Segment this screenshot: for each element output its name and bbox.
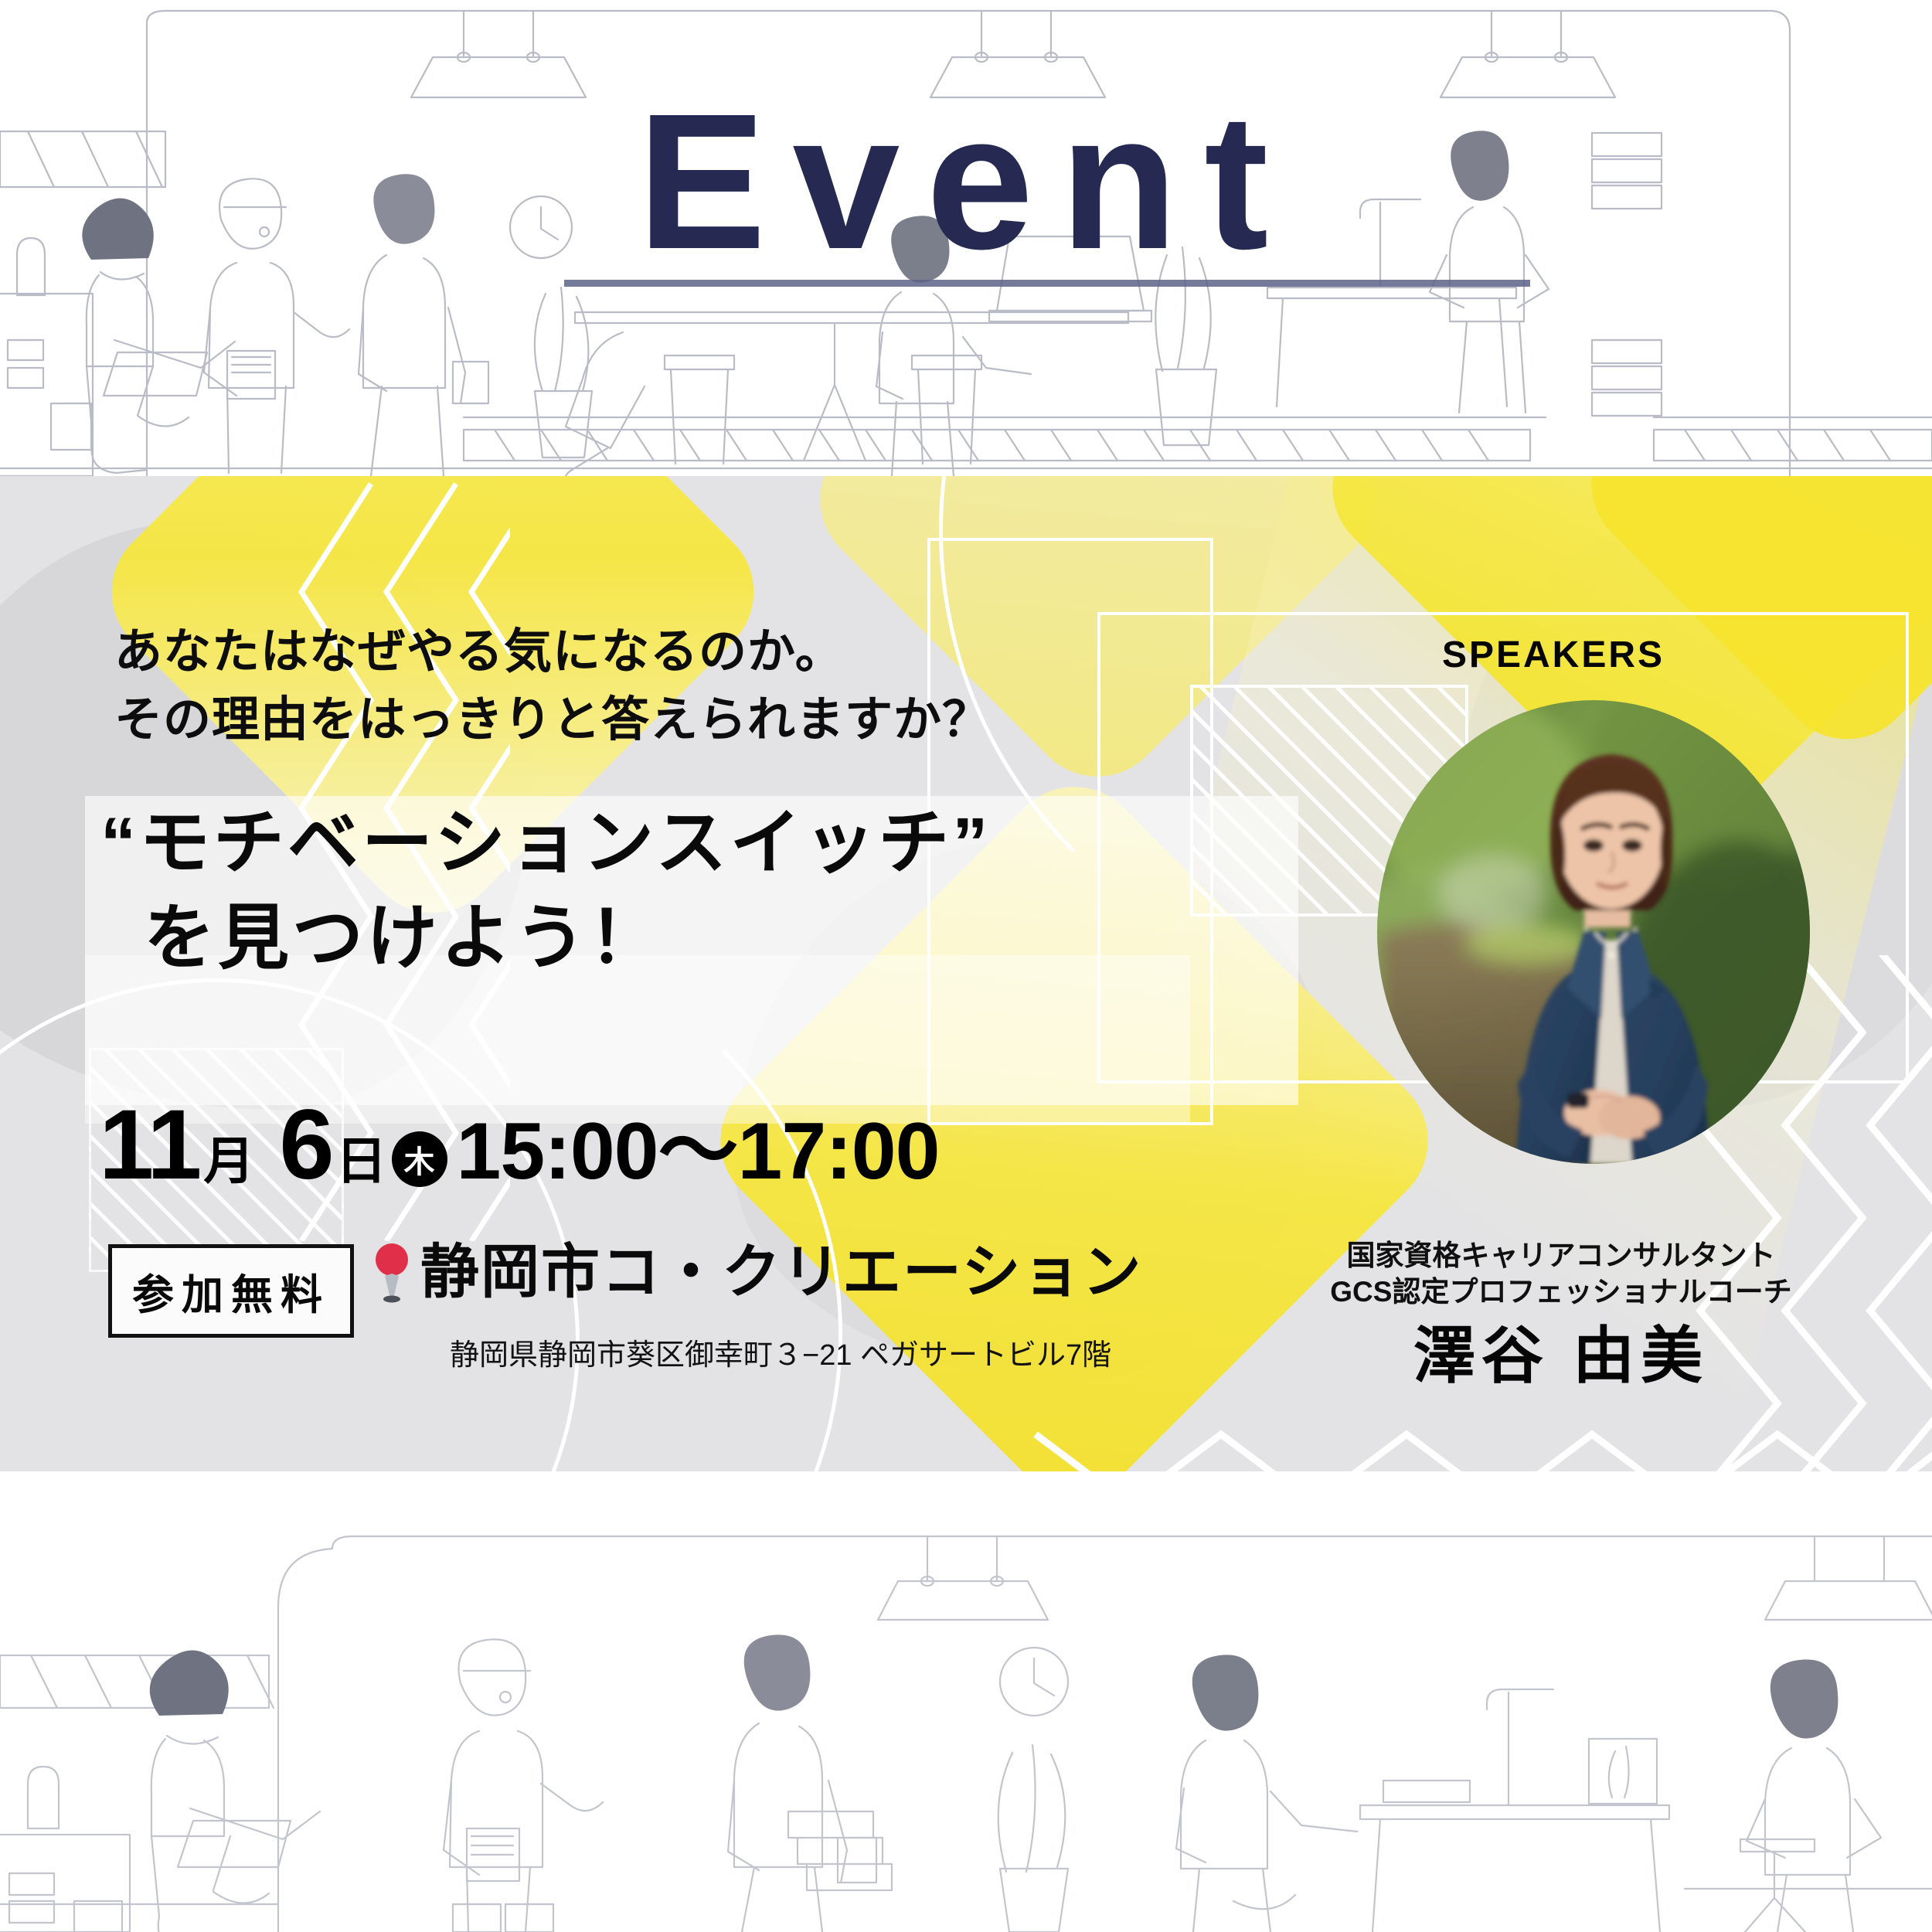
speaker-name: 澤谷 由美	[1275, 1306, 1847, 1396]
speaker-role-line-1: 国家資格キャリアコンサルタント	[1275, 1238, 1847, 1274]
lead-copy: あなたはなぜやる気になるのか。 その理由をはっきりと答えられますか？	[114, 618, 991, 754]
headline-line-1: “モチベーションスイッチ”	[100, 804, 991, 883]
speaker-portrait	[1377, 700, 1810, 1164]
free-admission-badge: 参加無料	[108, 1244, 354, 1338]
venue-block: 静岡市コ・クリエーション	[371, 1243, 1142, 1303]
event-date-time: 11 月 6 日 木 15:00〜17:00	[99, 1096, 940, 1195]
event-month: 11	[99, 1096, 200, 1195]
headline-line-2: を見つけよう！	[100, 891, 991, 986]
top-illustration-band: Event	[0, 0, 1932, 476]
bottom-illustration-band	[0, 1471, 1932, 1932]
event-day: 6	[279, 1096, 332, 1195]
title-underline	[564, 280, 1530, 287]
weekday-badge: 木	[392, 1131, 447, 1187]
speaker-role-line-2: GCS認定プロフェッショナルコーチ	[1275, 1274, 1847, 1311]
location-pin-icon	[371, 1243, 413, 1303]
event-day-unit: 日	[336, 1135, 387, 1186]
venue-name: 静岡市コ・クリエーション	[420, 1243, 1142, 1302]
venue-address: 静岡県静岡市葵区御幸町３−21 ペガサートビル7階	[450, 1331, 1111, 1373]
lead-line-1: あなたはなぜやる気になるのか。	[114, 618, 991, 686]
event-time: 15:00〜17:00	[457, 1111, 940, 1192]
main-headline: “モチベーションスイッチ” を見つけよう！	[100, 796, 991, 987]
office-lineart-bottom	[0, 1471, 1932, 1932]
event-month-unit: 月	[203, 1135, 254, 1186]
event-flyer: Event	[0, 0, 1932, 1932]
page-title: Event	[0, 85, 1932, 278]
lead-line-2: その理由をはっきりと答えられますか？	[114, 686, 991, 754]
speaker-role: 国家資格キャリアコンサルタント GCS認定プロフェッショナルコーチ	[1275, 1238, 1847, 1310]
speakers-section-label: SPEAKERS	[1283, 634, 1824, 676]
